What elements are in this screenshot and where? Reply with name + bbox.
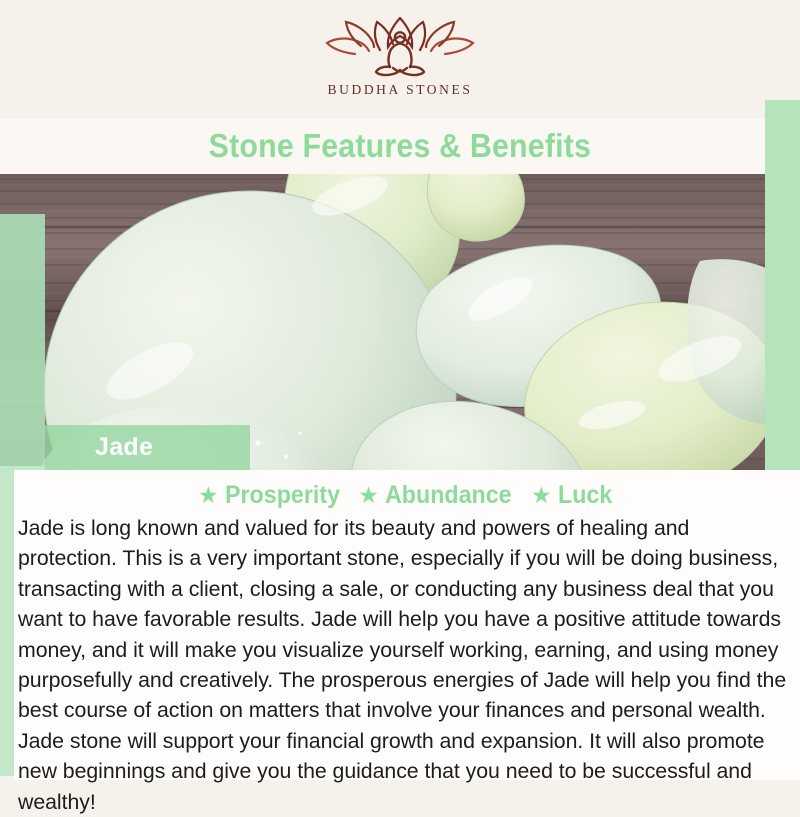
benefits-row: ★ Prosperity ★ Abundance ★ Luck — [14, 479, 800, 512]
benefit-item-abundance: ★ Abundance — [358, 481, 521, 510]
star-icon: ★ — [358, 484, 379, 507]
brand-header: BUDDHA STONES — [0, 0, 800, 120]
benefit-label-prosperity: Prosperity — [225, 481, 340, 510]
benefit-item-prosperity: ★ Prosperity — [198, 481, 348, 510]
brand-name: BUDDHA STONES — [328, 82, 473, 98]
benefit-label-luck: Luck — [558, 481, 612, 510]
benefit-item-luck: ★ Luck — [531, 481, 616, 510]
stone-name-label: Jade — [95, 433, 153, 462]
lotus-meditation-figure-icon — [325, 16, 475, 78]
star-icon: ★ — [531, 484, 552, 507]
description-text: Jade is long known and valued for its be… — [18, 513, 788, 817]
page-title-band: Stone Features & Benefits — [0, 118, 800, 174]
benefit-label-abundance: Abundance — [385, 481, 512, 510]
infographic-page: BUDDHA STONES Stone Features & Benefits — [0, 0, 800, 800]
decorative-strip-right — [765, 100, 800, 472]
page-title: Stone Features & Benefits — [209, 127, 592, 165]
stone-name-badge: Jade — [45, 425, 250, 470]
decorative-strip-left-top — [0, 214, 45, 466]
star-icon: ★ — [198, 484, 219, 507]
